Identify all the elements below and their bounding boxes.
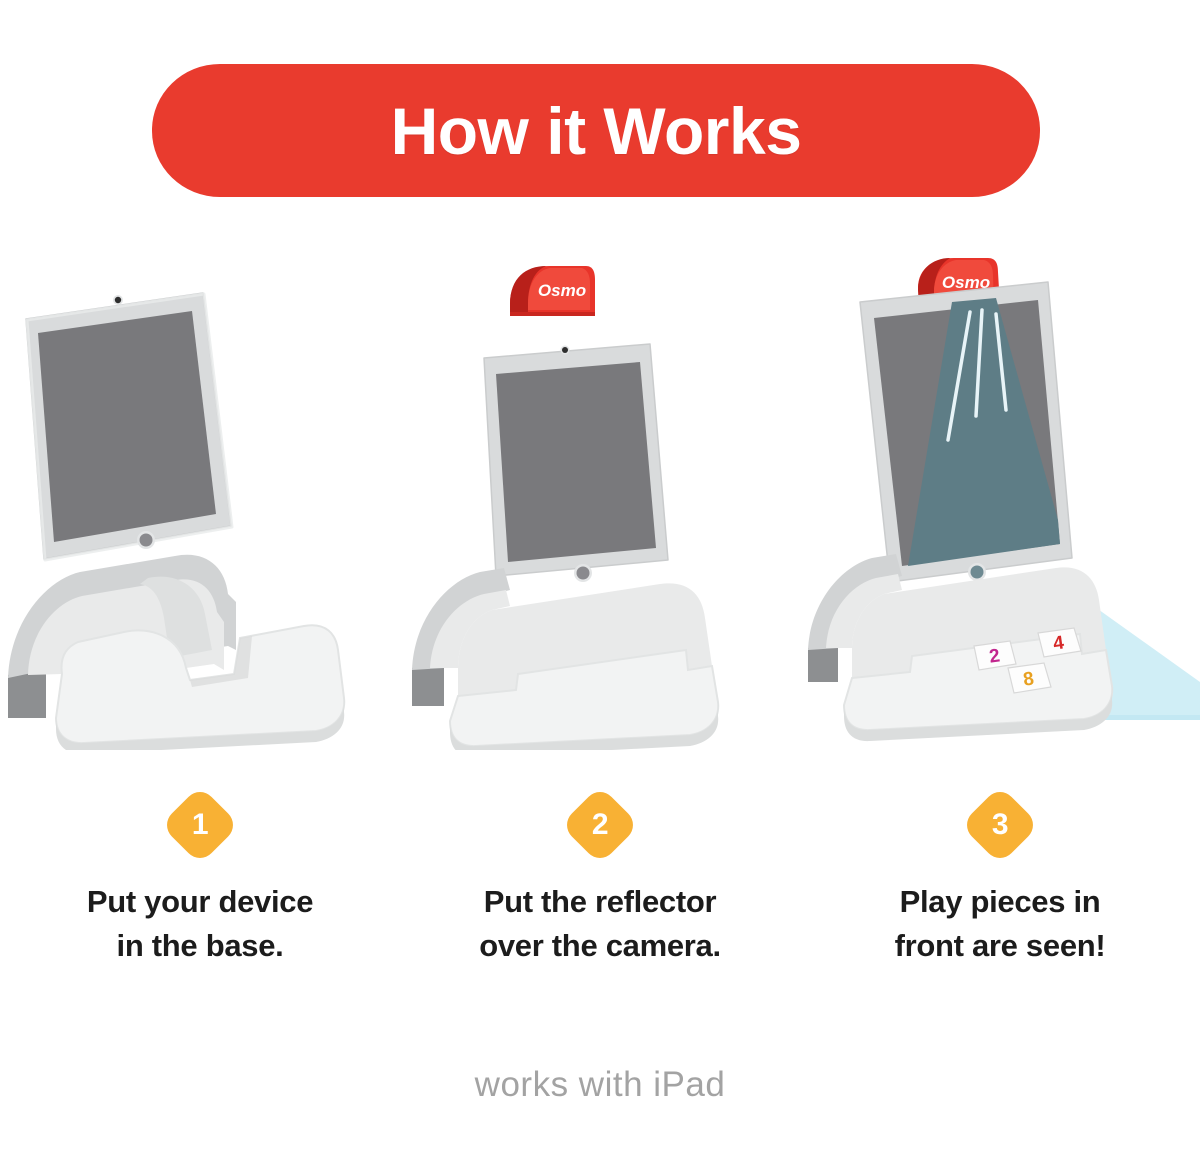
caption-step-3: Play pieces in front are seen! xyxy=(800,880,1200,968)
badge-2: 2 xyxy=(400,785,800,865)
caption-step-2: Put the reflector over the camera. xyxy=(400,880,800,968)
illustration-step-1 xyxy=(0,250,400,750)
caption-line-2: over the camera. xyxy=(400,924,800,968)
camera-icon xyxy=(562,347,568,353)
badge-3: 3 xyxy=(800,785,1200,865)
badge-diamond: 2 xyxy=(560,785,639,864)
caption-line-2: front are seen! xyxy=(800,924,1200,968)
ipad-device xyxy=(484,344,668,582)
step-2: Osmo xyxy=(400,250,800,1030)
caption-line-1: Put your device xyxy=(87,884,313,919)
banner: How it Works xyxy=(0,0,1200,230)
badge-1: 1 xyxy=(0,785,400,865)
base-stand xyxy=(412,568,718,750)
camera-icon xyxy=(115,297,121,303)
footer-note: works with iPad xyxy=(0,1065,1200,1105)
game-tile-8: 8 xyxy=(1008,663,1051,693)
badge-diamond: 1 xyxy=(160,785,239,864)
osmo-reflector: Osmo xyxy=(510,266,595,316)
ipad-device xyxy=(26,293,232,560)
game-tile-4: 4 xyxy=(1038,628,1081,657)
base-stand xyxy=(8,555,344,750)
illustration-step-3: Osmo xyxy=(800,250,1200,750)
badge-diamond: 3 xyxy=(960,785,1039,864)
badge-number: 3 xyxy=(992,810,1009,840)
caption-line-1: Put the reflector xyxy=(484,884,717,919)
step-3: Osmo xyxy=(800,250,1200,1030)
home-button-icon xyxy=(140,534,153,547)
home-button-icon xyxy=(971,566,984,579)
steps-row: 1 Put your device in the base. Osmo xyxy=(0,250,1200,1030)
badge-number: 1 xyxy=(192,810,209,840)
ipad-device xyxy=(860,282,1072,582)
illustration-step-2: Osmo xyxy=(400,250,800,750)
caption-line-1: Play pieces in xyxy=(900,884,1101,919)
step-1: 1 Put your device in the base. xyxy=(0,250,400,1030)
home-button-icon xyxy=(577,567,590,580)
ipad-screen xyxy=(38,311,216,542)
badge-number: 2 xyxy=(592,810,609,840)
osmo-logo-text: Osmo xyxy=(538,281,586,300)
caption-line-2: in the base. xyxy=(0,924,400,968)
page-title: How it Works xyxy=(152,64,1040,197)
ipad-screen xyxy=(496,362,656,562)
caption-step-1: Put your device in the base. xyxy=(0,880,400,968)
